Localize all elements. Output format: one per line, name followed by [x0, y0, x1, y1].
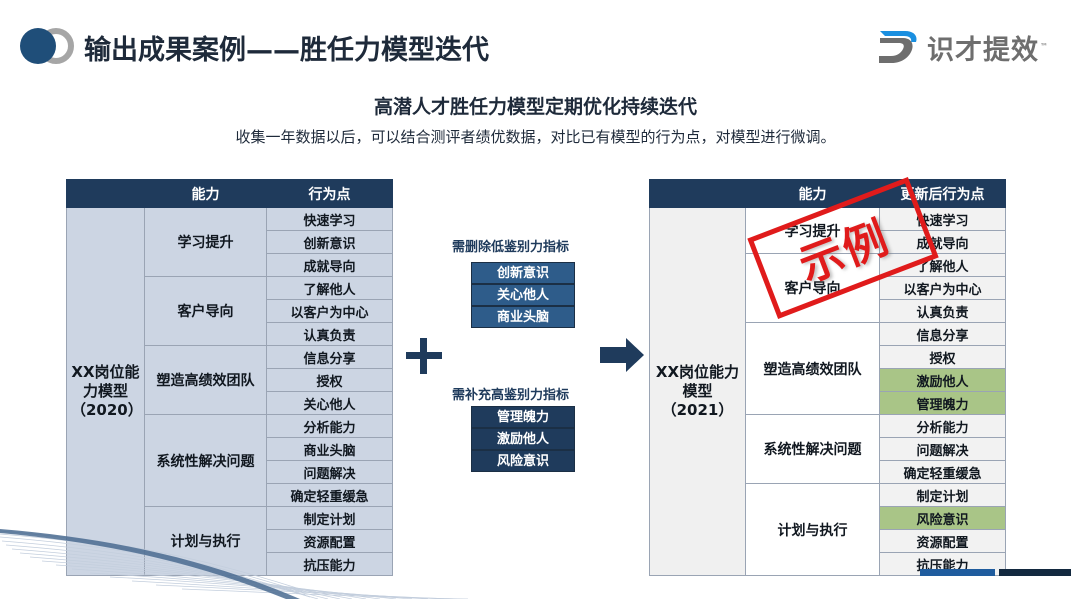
- right-header-updated-behavior: 更新后行为点: [880, 180, 1006, 208]
- right-behavior-cell: 信息分享: [880, 323, 1006, 346]
- add-indicators-list: 管理魄力激励他人风险意识: [471, 406, 575, 472]
- left-competency-cell: 塑造高绩效团队: [145, 346, 267, 415]
- brand-name-text: 识才提效: [927, 35, 1039, 66]
- plus-icon: [406, 338, 442, 374]
- logo-disc-shape: [20, 28, 56, 64]
- left-behavior-cell: 资源配置: [267, 530, 393, 553]
- right-table-body: XX岗位能力模型（2021）学习提升快速学习成就导向客户导向了解他人以客户为中心…: [650, 208, 1006, 576]
- left-behavior-cell: 关心他人: [267, 392, 393, 415]
- right-competency-cell: 塑造高绩效团队: [746, 323, 880, 415]
- right-behavior-cell: 快速学习: [880, 208, 1006, 231]
- left-behavior-cell: 成就导向: [267, 254, 393, 277]
- section-subtitle: 高潜人才胜任力模型定期优化持续迭代: [0, 92, 1071, 119]
- right-behavior-cell: 认真负责: [880, 300, 1006, 323]
- brand-logo: 识才提效™: [875, 27, 1049, 67]
- remove-indicator-chip: 创新意识: [471, 262, 575, 284]
- left-behavior-cell: 快速学习: [267, 208, 393, 231]
- left-behavior-cell: 确定轻重缓急: [267, 484, 393, 507]
- left-header-behavior: 行为点: [267, 180, 393, 208]
- left-behavior-cell: 制定计划: [267, 507, 393, 530]
- right-competency-cell: 计划与执行: [746, 484, 880, 576]
- left-header-blank: [67, 180, 145, 208]
- left-behavior-cell: 以客户为中心: [267, 300, 393, 323]
- table-row: XX岗位能力模型（2020）学习提升快速学习: [67, 208, 393, 231]
- right-model-label-cell: XX岗位能力模型（2021）: [650, 208, 746, 576]
- left-behavior-cell: 认真负责: [267, 323, 393, 346]
- left-competency-cell: 学习提升: [145, 208, 267, 277]
- section-description: 收集一年数据以后，可以结合测评者绩优数据，对比已有模型的行为点，对模型进行微调。: [0, 126, 1071, 147]
- brand-d-mark-icon: [875, 28, 919, 66]
- slide-root: 输出成果案例——胜任力模型迭代 识才提效™ 高潜人才胜任力模型定期优化持续迭代 …: [0, 0, 1071, 599]
- add-indicator-chip: 风险意识: [471, 450, 575, 472]
- left-competency-cell: 客户导向: [145, 277, 267, 346]
- slide-header: 输出成果案例——胜任力模型迭代 识才提效™: [0, 0, 1071, 80]
- right-behavior-cell-new: 激励他人: [880, 369, 1006, 392]
- left-model-label-cell: XX岗位能力模型（2020）: [67, 208, 145, 576]
- right-behavior-cell: 制定计划: [880, 484, 1006, 507]
- left-behavior-cell: 商业头脑: [267, 438, 393, 461]
- right-competency-cell: 客户导向: [746, 254, 880, 323]
- left-behavior-cell: 创新意识: [267, 231, 393, 254]
- overlapping-circles-logo-icon: [20, 26, 76, 66]
- left-competency-cell: 计划与执行: [145, 507, 267, 576]
- left-behavior-cell: 分析能力: [267, 415, 393, 438]
- right-competency-cell: 系统性解决问题: [746, 415, 880, 484]
- left-behavior-cell: 授权: [267, 369, 393, 392]
- left-table-head: 能力 行为点: [67, 180, 393, 208]
- competency-model-2021-table: 能力 更新后行为点 XX岗位能力模型（2021）学习提升快速学习成就导向客户导向…: [649, 179, 1006, 576]
- right-behavior-cell: 成就导向: [880, 231, 1006, 254]
- left-table-header-row: 能力 行为点: [67, 180, 393, 208]
- left-behavior-cell: 抗压能力: [267, 553, 393, 576]
- add-indicator-chip: 管理魄力: [471, 406, 575, 428]
- left-model-label: XX岗位能力模型（2020）: [67, 363, 144, 421]
- table-row: XX岗位能力模型（2021）学习提升快速学习: [650, 208, 1006, 231]
- add-indicator-chip: 激励他人: [471, 428, 575, 450]
- add-indicators-heading: 需补充高鉴别力指标: [452, 384, 569, 403]
- right-model-label: XX岗位能力模型（2021）: [650, 363, 745, 421]
- right-arrow-icon: [600, 338, 644, 372]
- right-behavior-cell-new: 管理魄力: [880, 392, 1006, 415]
- remove-indicator-chip: 关心他人: [471, 284, 575, 306]
- right-behavior-cell: 了解他人: [880, 254, 1006, 277]
- right-behavior-cell: 以客户为中心: [880, 277, 1006, 300]
- left-behavior-cell: 信息分享: [267, 346, 393, 369]
- competency-model-2020-table: 能力 行为点 XX岗位能力模型（2020）学习提升快速学习创新意识成就导向客户导…: [66, 179, 393, 576]
- left-behavior-cell: 了解他人: [267, 277, 393, 300]
- trademark-symbol: ™: [1040, 42, 1049, 51]
- left-behavior-cell: 问题解决: [267, 461, 393, 484]
- right-behavior-cell: 问题解决: [880, 438, 1006, 461]
- remove-indicators-list: 创新意识关心他人商业头脑: [471, 262, 575, 328]
- remove-indicator-chip: 商业头脑: [471, 306, 575, 328]
- right-behavior-cell-new: 风险意识: [880, 507, 1006, 530]
- footer-bar-light: [920, 569, 995, 576]
- remove-indicators-heading: 需删除低鉴别力指标: [452, 236, 569, 255]
- right-competency-cell: 学习提升: [746, 208, 880, 254]
- brand-name: 识才提效™: [927, 28, 1049, 67]
- left-competency-cell: 系统性解决问题: [145, 415, 267, 507]
- left-header-competency: 能力: [145, 180, 267, 208]
- right-header-competency: 能力: [746, 180, 880, 208]
- right-behavior-cell: 确定轻重缓急: [880, 461, 1006, 484]
- right-table-head: 能力 更新后行为点: [650, 180, 1006, 208]
- page-title: 输出成果案例——胜任力模型迭代: [84, 28, 489, 67]
- right-table-header-row: 能力 更新后行为点: [650, 180, 1006, 208]
- right-behavior-cell: 资源配置: [880, 530, 1006, 553]
- left-table-body: XX岗位能力模型（2020）学习提升快速学习创新意识成就导向客户导向了解他人以客…: [67, 208, 393, 576]
- right-behavior-cell: 授权: [880, 346, 1006, 369]
- right-behavior-cell: 分析能力: [880, 415, 1006, 438]
- right-header-blank: [650, 180, 746, 208]
- footer-bar-dark: [999, 569, 1071, 576]
